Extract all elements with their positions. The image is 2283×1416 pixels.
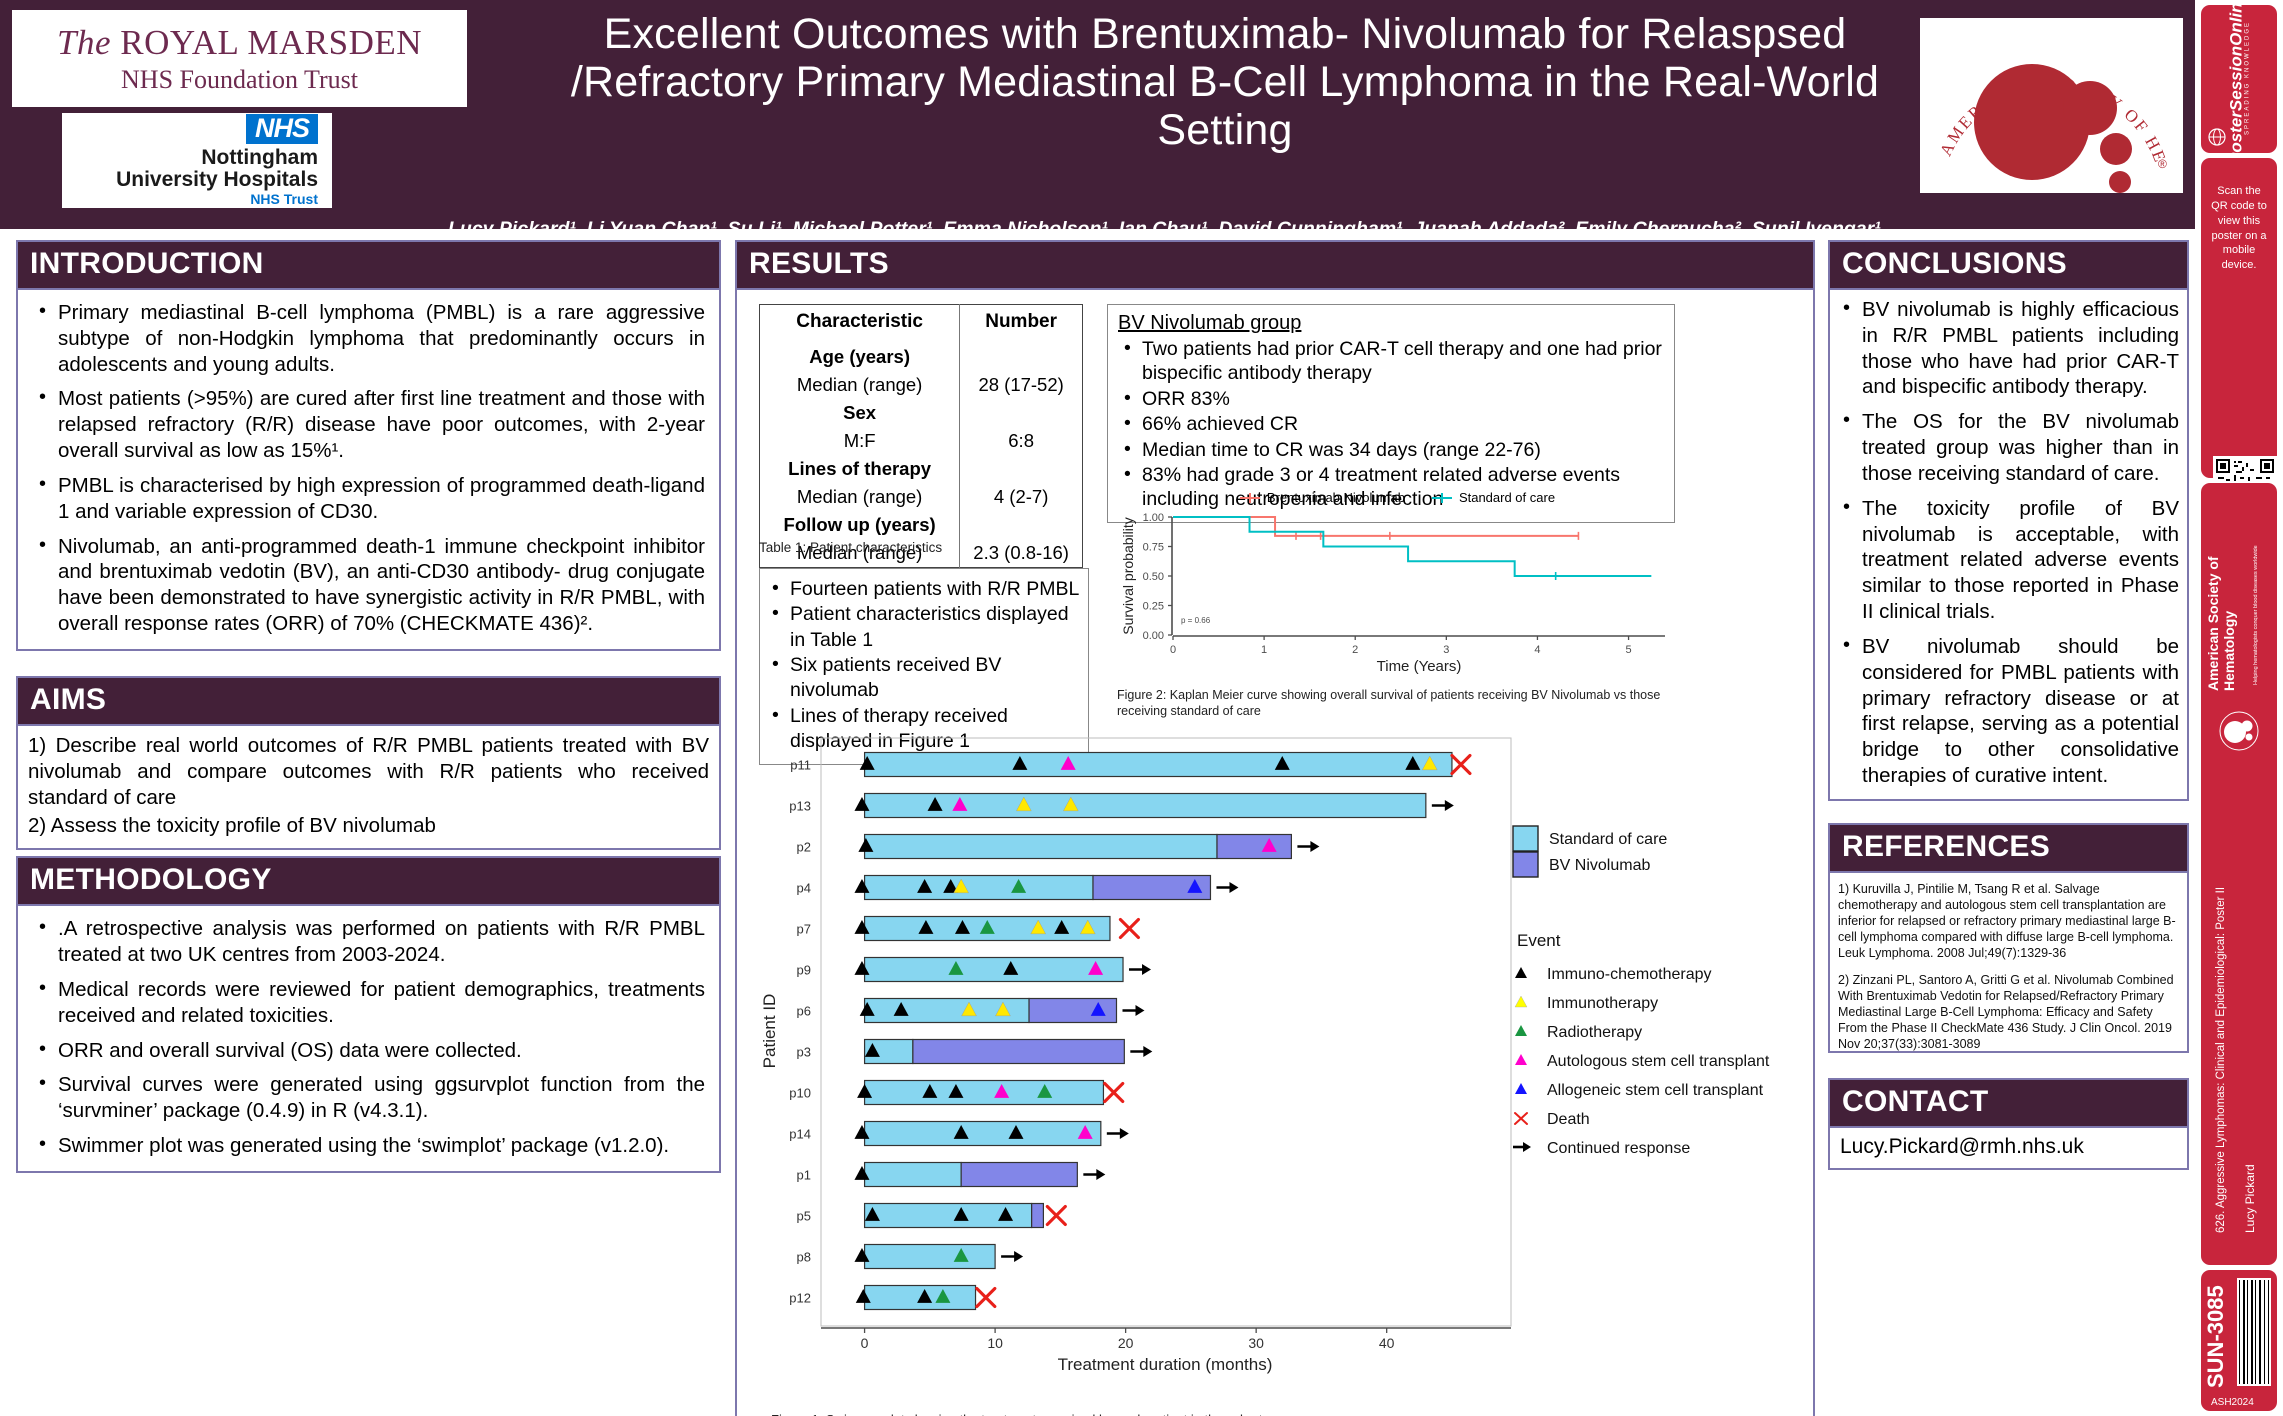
methodology-bullet: Swimmer plot was generated using the ‘sw… — [32, 1133, 705, 1159]
table-cell-label: Follow up (years) — [760, 511, 960, 539]
swimmer-legend-swatch — [1513, 826, 1538, 851]
table-row: Lines of therapy — [760, 455, 1083, 483]
introduction-bullet: Primary mediastinal B-cell lymphoma (PMB… — [32, 300, 705, 377]
swimmer-bar-standard-of-care — [865, 1122, 1101, 1146]
table-row: Median (range)28 (17-52) — [760, 371, 1083, 399]
swimmer-row-label: p7 — [797, 922, 811, 937]
swimmer-legend-event-label: Radiotherapy — [1547, 1024, 1642, 1041]
swimmer-bar-standard-of-care — [865, 1245, 996, 1269]
methodology-bullet: ORR and overall survival (OS) data were … — [32, 1038, 705, 1064]
meeting-label: ASH2024 — [2211, 1397, 2254, 1408]
km-legend: Brentuximab Nivolumab Standard of care — [1117, 490, 1677, 505]
swimmer-legend-label: BV Nivolumab — [1549, 857, 1650, 874]
methodology-heading: METHODOLOGY — [16, 856, 721, 906]
aims-item: 1) Describe real world outcomes of R/R P… — [28, 733, 709, 810]
swimmer-continued-response-arrow-icon — [1216, 882, 1238, 893]
abstract-id: SUN-3085 — [2203, 1278, 2229, 1388]
km-x-tick-label: 0 — [1170, 644, 1176, 656]
swimmer-death-cross-icon — [977, 1289, 995, 1307]
swimmer-bar-bv-nivolumab — [913, 1040, 1124, 1064]
nuh-line-1: Nottingham — [201, 147, 318, 169]
swimmer-row-label: p10 — [789, 1086, 811, 1101]
methodology-bullet: .A retrospective analysis was performed … — [32, 916, 705, 968]
qr-instructions-text: Scan the QR code to view this poster on … — [2201, 158, 2277, 273]
swimmer-continued-response-arrow-icon — [1297, 841, 1319, 852]
poster-title: Excellent Outcomes with Brentuximab- Niv… — [560, 10, 1890, 154]
table-cell-value: 6:8 — [960, 427, 1083, 455]
swimmer-x-tick-label: 0 — [861, 1335, 869, 1351]
swimmer-death-cross-icon — [1047, 1207, 1065, 1225]
swimmer-legend-triangle-icon — [1515, 1025, 1527, 1036]
conclusions-heading: CONCLUSIONS — [1828, 240, 2189, 290]
nuh-line-2: University Hospitals — [116, 169, 318, 191]
swimmer-continued-response-arrow-icon — [1001, 1251, 1023, 1262]
km-y-tick-label: 0.25 — [1143, 601, 1164, 613]
km-y-axis-label: Survival probability — [1120, 517, 1136, 635]
swimmer-legend-event-label: Immuno-chemotherapy — [1547, 966, 1712, 983]
society-session-card: American Society of Hematology Helping h… — [2201, 483, 2277, 1265]
column-right: CONCLUSIONS BV nivolumab is highly effic… — [1828, 240, 2189, 1170]
swimmer-row-label: p8 — [797, 1250, 811, 1265]
barcode — [2237, 1278, 2271, 1386]
aims-body: 1) Describe real world outcomes of R/R P… — [16, 726, 721, 850]
rm-logo-name: ROYAL MARSDEN — [120, 23, 422, 62]
swimmer-death-cross-icon — [1452, 756, 1470, 774]
section-aims: AIMS 1) Describe real world outcomes of … — [16, 676, 721, 850]
swimmer-legend-cross-icon — [1515, 1113, 1527, 1124]
km-x-tick-label: 2 — [1352, 644, 1358, 656]
km-x-tick-label: 3 — [1443, 644, 1449, 656]
swimmer-bar-standard-of-care — [865, 794, 1426, 818]
methodology-bullet: Survival curves were generated using ggs… — [32, 1072, 705, 1124]
table-cell-value — [960, 399, 1083, 427]
swimmer-bar-standard-of-care — [865, 876, 1093, 900]
km-y-tick-label: 0.00 — [1143, 630, 1164, 642]
ash-mini-logo-icon — [2219, 711, 2259, 751]
swimmer-row-label: p3 — [797, 1045, 811, 1060]
swimmer-y-axis-label: Patient ID — [760, 994, 779, 1069]
bv-group-bullet: Two patients had prior CAR-T cell therap… — [1118, 337, 1666, 386]
swimmer-death-cross-icon — [1120, 920, 1138, 938]
introduction-bullet: Most patients (>95%) are cured after fir… — [32, 386, 705, 463]
results-summary-bullet: Six patients received BV nivolumab — [766, 653, 1082, 704]
table-cell-label: M:F — [760, 427, 960, 455]
km-series-line — [1173, 517, 1578, 536]
table-column-header: Characteristic — [760, 305, 960, 344]
km-legend-item: Brentuximab Nivolumab — [1239, 490, 1405, 505]
km-x-axis-label: Time (Years) — [1377, 658, 1462, 675]
bv-group-bullet: ORR 83% — [1118, 387, 1666, 411]
swimmer-continued-response-arrow-icon — [1107, 1128, 1129, 1139]
table-column-header: Number — [960, 305, 1083, 344]
swimmer-bar-bv-nivolumab — [1217, 835, 1291, 859]
swimmer-x-tick-label: 20 — [1118, 1335, 1134, 1351]
swimmer-bar-standard-of-care — [865, 753, 1452, 777]
swimmer-legend-triangle-icon — [1515, 1083, 1527, 1094]
table-header-row: CharacteristicNumber — [760, 305, 1083, 344]
swimmer-x-tick-label: 10 — [987, 1335, 1003, 1351]
figure-1-caption: Figure 1: Swimmer plot showing the treat… — [771, 1412, 1262, 1416]
section-methodology: METHODOLOGY .A retrospective analysis wa… — [16, 856, 721, 1173]
swimmer-bar-standard-of-care — [865, 835, 1217, 859]
table-cell-label: Lines of therapy — [760, 455, 960, 483]
swimmer-row-label: p6 — [797, 1004, 811, 1019]
patient-characteristics-table: CharacteristicNumberAge (years)Median (r… — [759, 304, 1083, 568]
table-row: M:F6:8 — [760, 427, 1083, 455]
conclusions-bullet: The toxicity profile of BV nivolumab is … — [1836, 496, 2179, 625]
nottingham-university-hospitals-logo: NHS Nottingham University Hospitals NHS … — [62, 113, 332, 208]
abstract-id-card: SUN-3085 ASH2024 — [2201, 1270, 2277, 1411]
swimmer-bar-bv-nivolumab — [1029, 999, 1116, 1023]
table-cell-label: Age (years) — [760, 343, 960, 371]
swimmer-legend-event-label: Death — [1547, 1111, 1590, 1128]
swimmer-continued-response-arrow-icon — [1432, 800, 1454, 811]
table-cell-value — [960, 343, 1083, 371]
swimmer-row-label: p2 — [797, 840, 811, 855]
table-cell-value: 2.3 (0.8-16) — [960, 539, 1083, 568]
bv-group-title: BV Nivolumab group — [1118, 312, 1666, 335]
aims-item: 2) Assess the toxicity profile of BV niv… — [28, 813, 709, 839]
table-cell-label: Median (range) — [760, 483, 960, 511]
society-tagline: Helping hematologists conquer blood dise… — [2253, 495, 2259, 685]
table-row: Follow up (years) — [760, 511, 1083, 539]
swimmer-continued-response-arrow-icon — [1130, 1046, 1152, 1057]
swimmer-row-label: p4 — [797, 881, 811, 896]
contact-body: Lucy.Pickard@rmh.nhs.uk — [1828, 1128, 2189, 1170]
ash-society-logo: AMERICAN SOCIETY OF HEMATOLOGY ® — [1920, 18, 2183, 193]
methodology-bullet: Medical records were reviewed for patien… — [32, 977, 705, 1029]
introduction-bullet: PMBL is characterised by high expression… — [32, 473, 705, 525]
km-plot-area: 0123450.000.250.500.751.00p = 0.66Time (… — [1117, 509, 1677, 679]
table-row: Sex — [760, 399, 1083, 427]
swimmer-plot-area: p11p13p2p4p7p9p6p3p10p14p1p5p8p120102030… — [753, 730, 1793, 1416]
introduction-bullet: Nivolumab, an anti-programmed death-1 im… — [32, 534, 705, 637]
swimmer-row-label: p9 — [797, 963, 811, 978]
km-legend-item: Standard of care — [1431, 490, 1555, 505]
swimmer-row-label: p14 — [789, 1127, 811, 1142]
swimmer-bar-standard-of-care — [865, 1163, 962, 1187]
table-cell-label: Median (range) — [760, 371, 960, 399]
km-legend-label: Brentuximab Nivolumab — [1267, 490, 1405, 505]
swimmer-legend-event-label: Autologous stem cell transplant — [1547, 1053, 1770, 1070]
figure-2-kaplan-meier-chart: Brentuximab Nivolumab Standard of care 0… — [1117, 490, 1677, 680]
km-x-tick-label: 5 — [1625, 644, 1631, 656]
swimmer-row-label: p13 — [789, 799, 811, 814]
swimmer-row-label: p11 — [790, 758, 811, 773]
sidebar-brand-tagline: SPREADING KNOWLEDGE — [2245, 0, 2251, 163]
section-references: REFERENCES 1) Kuruvilla J, Pintilie M, T… — [1828, 823, 2189, 1053]
conclusions-bullet: BV nivolumab is highly efficacious in R/… — [1836, 297, 2179, 400]
table-row: Age (years) — [760, 343, 1083, 371]
references-body: 1) Kuruvilla J, Pintilie M, Tsang R et a… — [1828, 873, 2189, 1053]
km-legend-marker-standard — [1431, 492, 1453, 504]
swimmer-row-label: p5 — [797, 1209, 811, 1224]
km-x-tick-label: 1 — [1261, 644, 1267, 656]
swimmer-panel — [821, 738, 1511, 1326]
swimmer-legend-triangle-icon — [1515, 1054, 1527, 1065]
svg-text:®: ® — [2158, 157, 2167, 171]
swimmer-row-label: p12 — [789, 1291, 811, 1306]
swimmer-legend-triangle-icon — [1515, 996, 1527, 1007]
introduction-heading: INTRODUCTION — [16, 240, 721, 290]
swimmer-legend-triangle-icon — [1515, 967, 1527, 978]
table-1-caption: Table 1: Patient characteristics — [759, 540, 942, 555]
swimmer-legend-swatch — [1513, 852, 1538, 877]
table-row: Median (range)4 (2-7) — [760, 483, 1083, 511]
km-series-line — [1173, 517, 1651, 576]
sidebar-brand-name: PosterSessionOnline — [2228, 0, 2245, 165]
km-x-tick-label: 4 — [1534, 644, 1540, 656]
contact-email[interactable]: Lucy.Pickard@rmh.nhs.uk — [1840, 1135, 2084, 1158]
swimmer-bar-standard-of-care — [865, 1081, 1104, 1105]
results-heading: RESULTS — [735, 240, 1815, 290]
swimmer-bar-bv-nivolumab — [1032, 1204, 1044, 1228]
km-legend-marker-brentuximab — [1239, 492, 1261, 504]
swimmer-x-tick-label: 40 — [1379, 1335, 1395, 1351]
km-y-tick-label: 1.00 — [1143, 512, 1164, 524]
swimmer-continued-response-arrow-icon — [1129, 964, 1151, 975]
swimmer-bar-standard-of-care — [865, 958, 1123, 982]
swimmer-legend-event-label: Allogeneic stem cell transplant — [1547, 1082, 1764, 1099]
conclusions-bullet: The OS for the BV nivolumab treated grou… — [1836, 409, 2179, 486]
rm-logo-the: The — [57, 23, 111, 62]
section-contact: CONTACT Lucy.Pickard@rmh.nhs.uk — [1828, 1078, 2189, 1170]
globe-icon — [2207, 127, 2227, 147]
results-summary-bullet: Fourteen patients with R/R PMBL — [766, 577, 1082, 602]
swimmer-legend-event-label: Continued response — [1547, 1140, 1690, 1157]
table-cell-value — [960, 511, 1083, 539]
results-summary-bullet: Patient characteristics displayed in Tab… — [766, 602, 1082, 653]
contact-heading: CONTACT — [1828, 1078, 2189, 1128]
km-legend-label: Standard of care — [1459, 490, 1555, 505]
methodology-body: .A retrospective analysis was performed … — [16, 906, 721, 1173]
km-y-tick-label: 0.75 — [1143, 542, 1164, 554]
reference-item: 2) Zinzani PL, Santoro A, Gritti G et al… — [1838, 972, 2179, 1052]
rm-logo-subtitle: NHS Foundation Trust — [121, 65, 358, 95]
qr-instructions-card: Scan the QR code to view this poster on … — [2201, 158, 2277, 478]
session-title: 626. Aggressive Lymphomas: Clinical and … — [2215, 813, 2227, 1233]
table-cell-value — [960, 455, 1083, 483]
figure-2-caption: Figure 2: Kaplan Meier curve showing ove… — [1117, 688, 1677, 719]
figure-1-swimmer-chart: p11p13p2p4p7p9p6p3p10p14p1p5p8p120102030… — [753, 730, 1793, 1416]
swimmer-x-axis-label: Treatment duration (months) — [1058, 1355, 1273, 1374]
swimmer-row-label: p1 — [797, 1168, 811, 1183]
society-name: American Society of Hematology — [2205, 491, 2237, 691]
swimmer-legend-arrow-icon — [1513, 1142, 1531, 1152]
aims-heading: AIMS — [16, 676, 721, 726]
swimmer-continued-response-arrow-icon — [1122, 1005, 1144, 1016]
nhs-badge: NHS — [246, 114, 318, 144]
section-introduction: INTRODUCTION Primary mediastinal B-cell … — [16, 240, 721, 651]
poster-header: The ROYAL MARSDEN NHS Foundation Trust N… — [0, 0, 2195, 229]
km-pvalue-annotation: p = 0.66 — [1181, 616, 1211, 625]
swimmer-legend-event-title: Event — [1517, 931, 1561, 950]
section-conclusions: CONCLUSIONS BV nivolumab is highly effic… — [1828, 240, 2189, 801]
bv-group-bullet: Median time to CR was 34 days (range 22-… — [1118, 438, 1666, 462]
column-left: INTRODUCTION Primary mediastinal B-cell … — [16, 240, 721, 1173]
conference-sidebar: PosterSessionOnline SPREADING KNOWLEDGE … — [2195, 0, 2283, 1416]
swimmer-death-cross-icon — [1105, 1084, 1123, 1102]
table-cell-label: Sex — [760, 399, 960, 427]
references-heading: REFERENCES — [1828, 823, 2189, 873]
conclusions-bullet: BV nivolumab should be considered for PM… — [1836, 634, 2179, 789]
introduction-body: Primary mediastinal B-cell lymphoma (PMB… — [16, 290, 721, 651]
column-middle: RESULTS CharacteristicNumberAge (years)M… — [735, 240, 1815, 1416]
presenter-name: Lucy Pickard — [2243, 1113, 2257, 1233]
reference-item: 1) Kuruvilla J, Pintilie M, Tsang R et a… — [1838, 881, 2179, 961]
results-body: CharacteristicNumberAge (years)Median (r… — [735, 290, 1815, 1416]
swimmer-x-tick-label: 30 — [1248, 1335, 1264, 1351]
table-cell-value: 4 (2-7) — [960, 483, 1083, 511]
swimmer-bar-bv-nivolumab — [961, 1163, 1077, 1187]
poster-canvas: The ROYAL MARSDEN NHS Foundation Trust N… — [0, 0, 2195, 1416]
swimmer-legend-label: Standard of care — [1549, 831, 1667, 848]
table-cell-value: 28 (17-52) — [960, 371, 1083, 399]
swimmer-legend-event-label: Immunotherapy — [1547, 995, 1658, 1012]
swimmer-continued-response-arrow-icon — [1083, 1169, 1105, 1180]
royal-marsden-logo: The ROYAL MARSDEN NHS Foundation Trust — [12, 10, 467, 107]
conclusions-body: BV nivolumab is highly efficacious in R/… — [1828, 290, 2189, 801]
km-y-tick-label: 0.50 — [1143, 571, 1164, 583]
postersessiononline-brand-card: PosterSessionOnline SPREADING KNOWLEDGE — [2201, 5, 2277, 153]
bv-group-bullet: 66% achieved CR — [1118, 412, 1666, 436]
nuh-line-3: NHS Trust — [250, 192, 318, 207]
